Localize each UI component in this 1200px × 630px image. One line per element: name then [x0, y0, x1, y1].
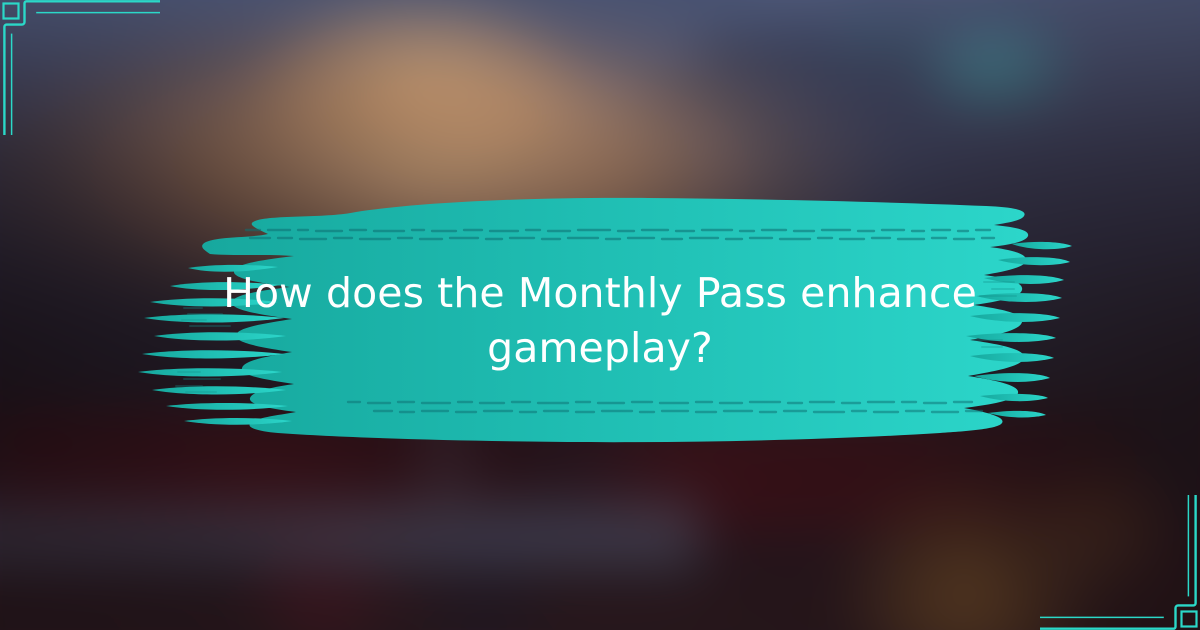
page-title: How does the Monthly Pass enhance gamepl… [170, 266, 1030, 376]
bottom-right-tech-bracket [1040, 495, 1200, 630]
thumbnail-canvas: How does the Monthly Pass enhance gamepl… [0, 0, 1200, 630]
top-left-tech-bracket [0, 0, 160, 135]
